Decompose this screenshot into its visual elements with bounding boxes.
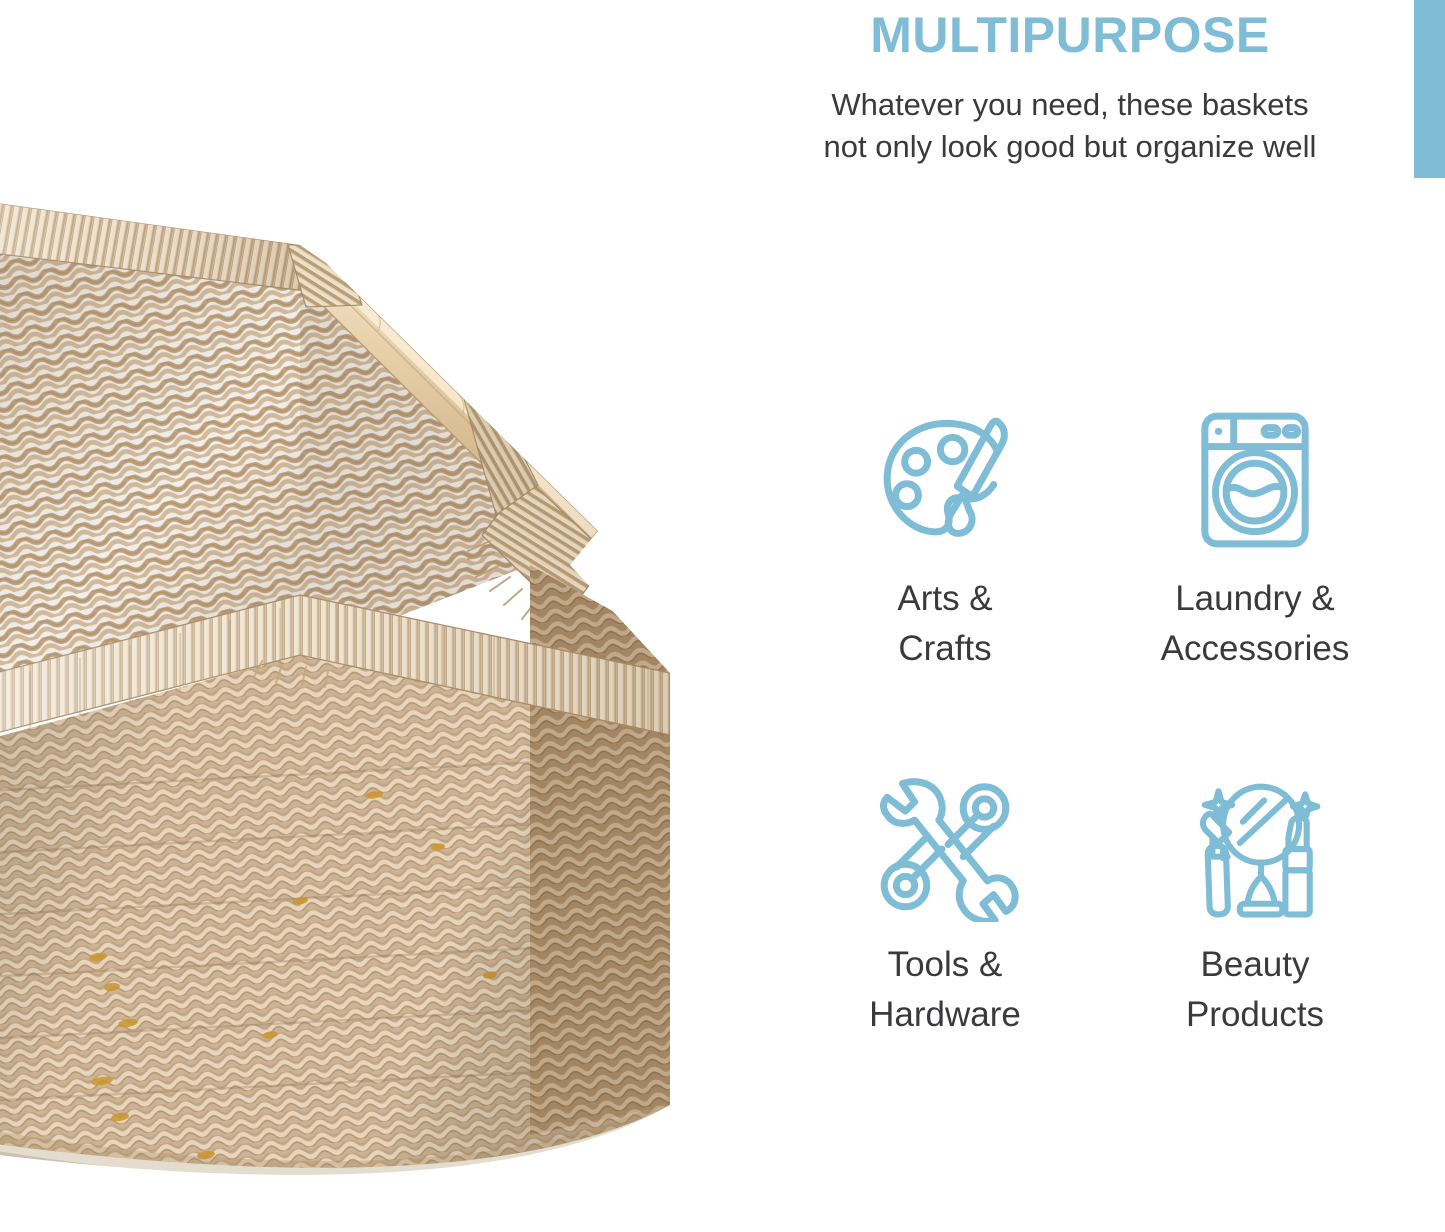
subtitle-line-2: not only look good but organize well [824,129,1317,164]
vanity-mirror-makeup-icon [1175,766,1335,926]
feature-arts-crafts: Arts & Crafts [790,400,1100,674]
feature-tools-hardware: Tools & Hardware [790,766,1100,1040]
woven-seagrass-basket-photo [0,95,770,1195]
feature-grid: Arts & Crafts [790,400,1410,1040]
header-text-block: MULTIPURPOSE Whatever you need, these ba… [740,0,1400,168]
page-title: MULTIPURPOSE [740,0,1400,64]
subtitle-line-1: Whatever you need, these baskets [831,87,1308,122]
feature-label: Laundry & Accessories [1161,574,1350,674]
accent-bar [1414,0,1445,178]
subtitle: Whatever you need, these baskets not onl… [740,64,1400,168]
crossed-wrenches-icon [865,766,1025,926]
infographic-canvas: MULTIPURPOSE Whatever you need, these ba… [0,0,1445,1232]
paint-palette-icon [865,400,1025,560]
feature-laundry-accessories: Laundry & Accessories [1100,400,1410,674]
feature-label: Beauty Products [1186,940,1324,1040]
feature-label: Arts & Crafts [897,574,992,674]
feature-beauty-products: Beauty Products [1100,766,1410,1040]
feature-label: Tools & Hardware [869,940,1021,1040]
washing-machine-icon [1175,400,1335,560]
